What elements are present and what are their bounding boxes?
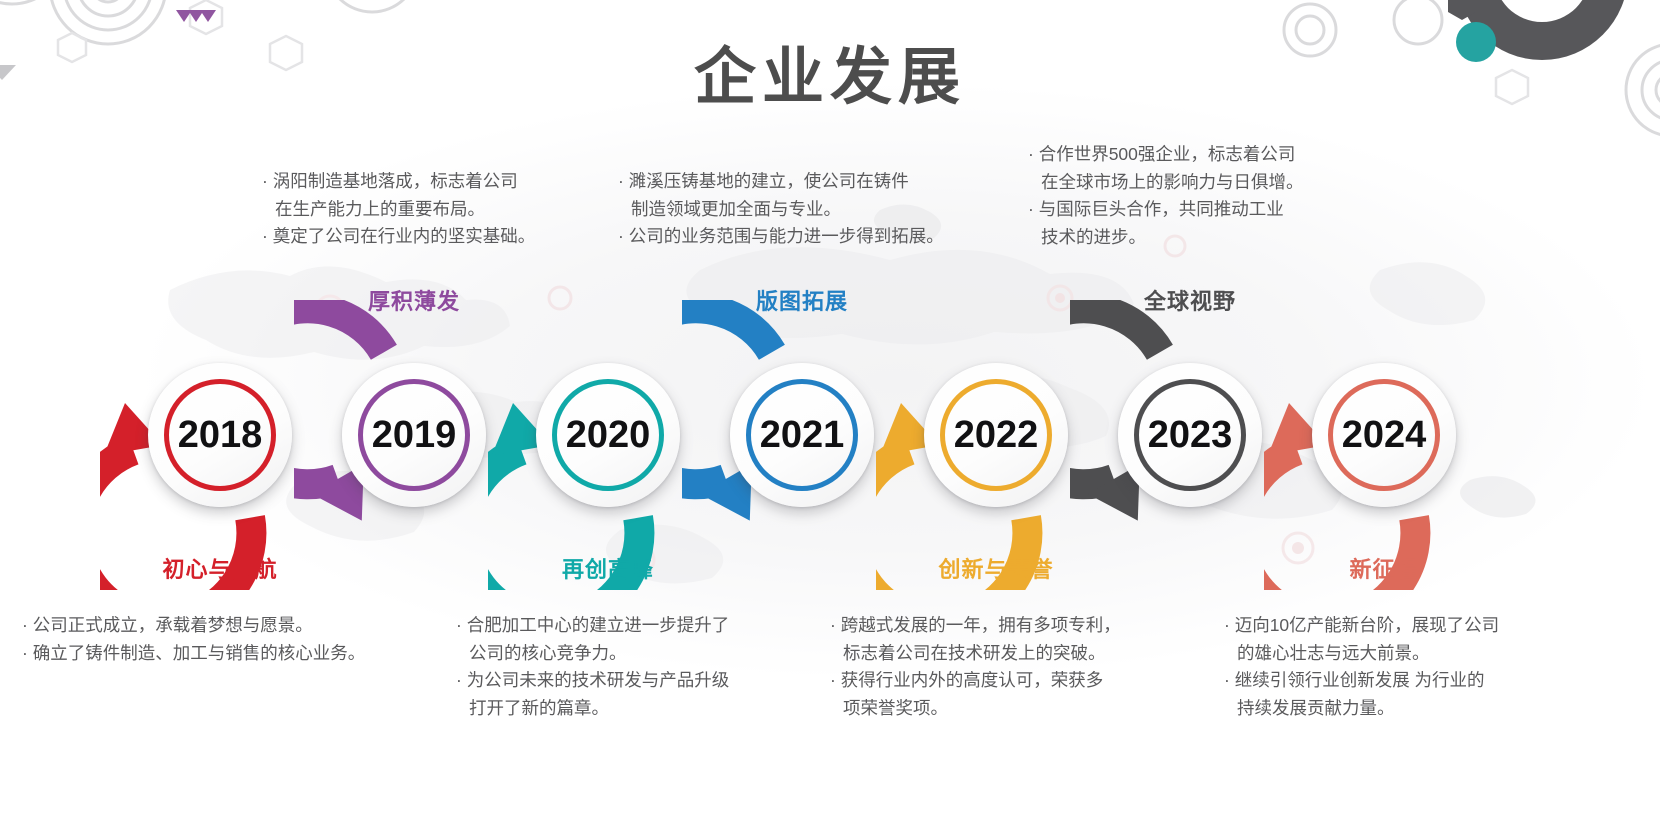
year-label-2020: 2020 [566, 416, 651, 454]
caption-2018: 初心与启航 [162, 552, 277, 584]
text-line: 打开了新的篇章。 [456, 695, 729, 723]
text-line: · 濉溪压铸基地的建立，使公司在铸件 [618, 168, 944, 196]
year-ring-2022: 2022 [940, 379, 1052, 491]
text-line: · 获得行业内外的高度认可，荣获多 [830, 667, 1121, 695]
text-line: 项荣誉奖项。 [830, 695, 1121, 723]
caption-2019: 厚积薄发 [368, 284, 460, 316]
text-block-2024-bottom: · 迈向10亿产能新台阶，展现了公司的雄心壮志与远大前景。· 继续引领行业创新发… [1224, 612, 1499, 723]
caption-2021: 版图拓展 [756, 284, 848, 316]
year-disc-2024[interactable]: 2024 [1312, 363, 1456, 507]
text-block-2020-bottom: · 合肥加工中心的建立进一步提升了公司的核心竞争力。· 为公司未来的技术研发与产… [456, 612, 729, 723]
year-label-2019: 2019 [372, 416, 457, 454]
year-ring-2020: 2020 [552, 379, 664, 491]
text-block-2019-top: · 涡阳制造基地落成，标志着公司在生产能力上的重要布局。· 奠定了公司在行业内的… [262, 168, 535, 251]
text-line: 公司的核心竞争力。 [456, 640, 729, 668]
year-label-2018: 2018 [178, 416, 263, 454]
text-line: · 合肥加工中心的建立进一步提升了 [456, 612, 729, 640]
text-line: · 奠定了公司在行业内的坚实基础。 [262, 223, 535, 251]
year-disc-2022[interactable]: 2022 [924, 363, 1068, 507]
text-line: 的雄心壮志与远大前景。 [1224, 640, 1499, 668]
year-disc-2021[interactable]: 2021 [730, 363, 874, 507]
caption-2024: 新征程 [1349, 552, 1418, 584]
text-line: 在生产能力上的重要布局。 [262, 196, 535, 224]
text-line: 制造领域更加全面与专业。 [618, 196, 944, 224]
caption-2020: 再创高峰 [562, 552, 654, 584]
year-ring-2024: 2024 [1328, 379, 1440, 491]
year-label-2022: 2022 [954, 416, 1039, 454]
text-line: · 合作世界500强企业，标志着公司 [1028, 141, 1304, 169]
year-disc-2020[interactable]: 2020 [536, 363, 680, 507]
text-block-2023-top: · 合作世界500强企业，标志着公司在全球市场上的影响力与日俱增。· 与国际巨头… [1028, 141, 1304, 252]
year-disc-2023[interactable]: 2023 [1118, 363, 1262, 507]
text-line: 标志着公司在技术研发上的突破。 [830, 640, 1121, 668]
year-ring-2021: 2021 [746, 379, 858, 491]
text-line: · 为公司未来的技术研发与产品升级 [456, 667, 729, 695]
text-line: · 与国际巨头合作，共同推动工业 [1028, 196, 1304, 224]
caption-2023: 全球视野 [1144, 284, 1236, 316]
text-line: · 迈向10亿产能新台阶，展现了公司 [1224, 612, 1499, 640]
timeline-node-2024[interactable]: 2024 [1264, 300, 1504, 590]
text-line: 在全球市场上的影响力与日俱增。 [1028, 169, 1304, 197]
text-line: · 公司正式成立，承载着梦想与愿景。 [22, 612, 365, 640]
year-ring-2018: 2018 [164, 379, 276, 491]
text-line: · 继续引领行业创新发展 为行业的 [1224, 667, 1499, 695]
text-line: · 公司的业务范围与能力进一步得到拓展。 [618, 223, 944, 251]
text-block-2022-bottom: · 跨越式发展的一年，拥有多项专利，标志着公司在技术研发上的突破。· 获得行业内… [830, 612, 1121, 723]
year-label-2023: 2023 [1148, 416, 1233, 454]
slide-canvas: 企业发展 2018201920202021202220232024 初心与启航厚… [0, 0, 1660, 829]
text-line: · 涡阳制造基地落成，标志着公司 [262, 168, 535, 196]
year-disc-2019[interactable]: 2019 [342, 363, 486, 507]
year-label-2021: 2021 [760, 416, 845, 454]
page-title: 企业发展 [0, 26, 1660, 116]
year-ring-2023: 2023 [1134, 379, 1246, 491]
text-line: · 确立了铸件制造、加工与销售的核心业务。 [22, 640, 365, 668]
caption-2022: 创新与荣誉 [938, 552, 1053, 584]
text-line: · 跨越式发展的一年，拥有多项专利， [830, 612, 1121, 640]
text-block-2018-bottom: · 公司正式成立，承载着梦想与愿景。· 确立了铸件制造、加工与销售的核心业务。 [22, 612, 365, 667]
text-line: 持续发展贡献力量。 [1224, 695, 1499, 723]
year-label-2024: 2024 [1342, 416, 1427, 454]
timeline-track: 2018201920202021202220232024 [0, 300, 1660, 590]
year-ring-2019: 2019 [358, 379, 470, 491]
text-block-2021-top: · 濉溪压铸基地的建立，使公司在铸件制造领域更加全面与专业。· 公司的业务范围与… [618, 168, 944, 251]
text-line: 技术的进步。 [1028, 224, 1304, 252]
year-disc-2018[interactable]: 2018 [148, 363, 292, 507]
